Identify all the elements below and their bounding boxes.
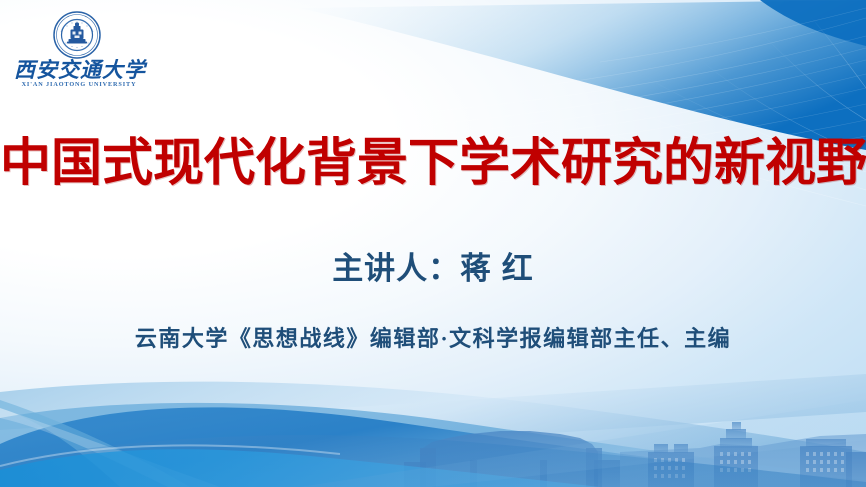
xjtu-seal-emblem-icon [52,10,102,60]
logo-university-name-cn: 西安交通大学 [14,60,144,81]
logo-university-name-en: XI'AN JIAOTONG UNIVERSITY [14,82,144,88]
slide-title: 中国式现代化背景下学术研究的新视野 [0,132,866,193]
top-right-wedge [300,0,866,150]
affiliation-line: 云南大学《思想战线》编辑部·文科学报编辑部主任、主编 [0,325,866,354]
presenter-line: 主讲人：蒋 红 [0,250,866,289]
university-logo: 西安交通大学 XI'AN JIAOTONG UNIVERSITY [14,8,144,94]
title-slide: 西安交通大学 XI'AN JIAOTONG UNIVERSITY 中国式现代化背… [0,0,866,487]
